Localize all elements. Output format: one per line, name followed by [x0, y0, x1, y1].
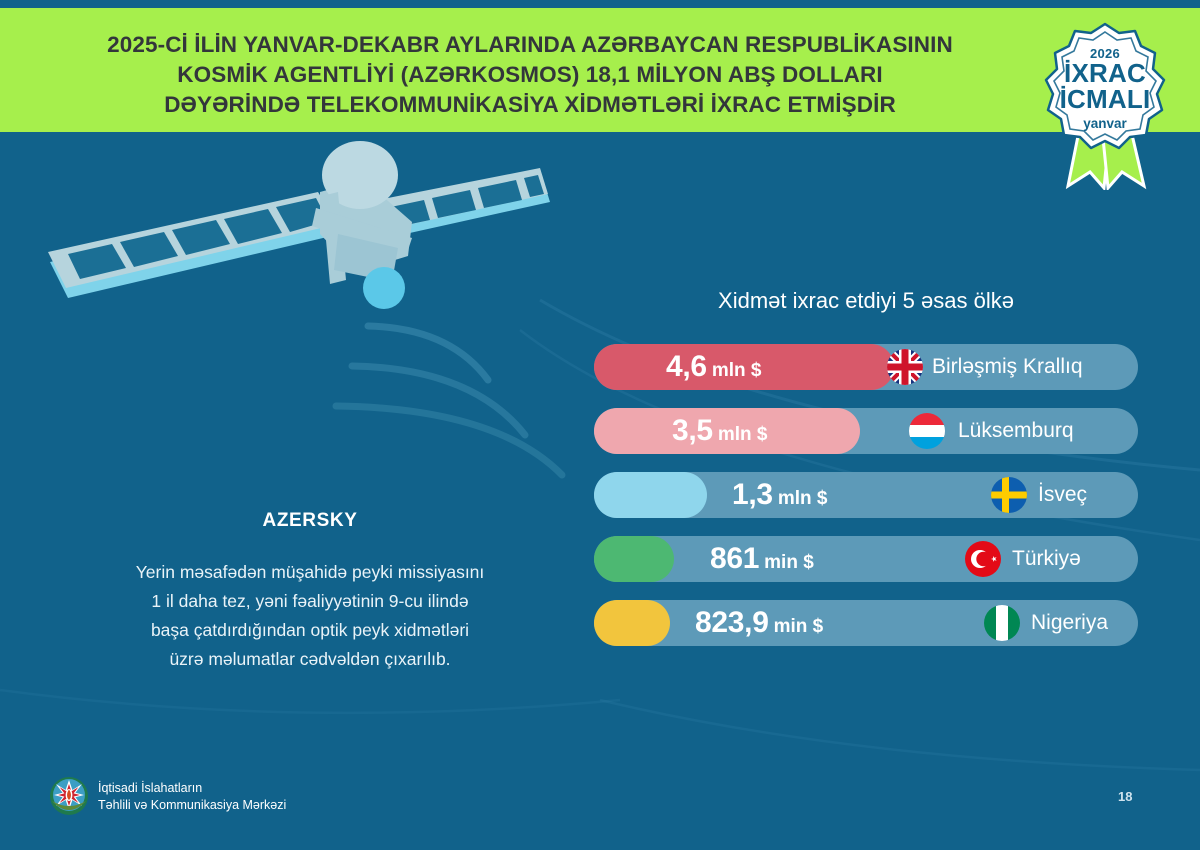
- azerbaijan-emblem-icon: [48, 775, 90, 817]
- page-title: 2025-Cİ İLİN YANVAR-DEKABR AYLARINDA AZƏ…: [30, 30, 1030, 120]
- bar-row-luxembourg: 3,5mln $ Lüksemburq: [594, 408, 1138, 454]
- badge-line-2: İCMALI: [1018, 86, 1192, 113]
- satellite-body: [312, 141, 412, 284]
- bar-value-number: 823,9: [695, 606, 769, 639]
- luxembourg-flag-icon: [909, 413, 945, 449]
- bar-value-nigeria: 823,9min $: [695, 600, 823, 646]
- bar-value-turkiye: 861min $: [710, 536, 814, 582]
- bar-row-nigeria: 823,9min $ Nigeriya: [594, 600, 1138, 646]
- country-label-turkiye: Türkiyə: [1012, 536, 1081, 582]
- bar-value-number: 1,3: [732, 478, 773, 511]
- country-label-uk: Birləşmiş Krallıq: [932, 344, 1083, 390]
- country-bar-chart: 4,6mln $ Birləşmiş Krallıq 3,5mln $: [594, 344, 1138, 664]
- solar-panel-left: [48, 192, 340, 298]
- bar-row-turkiye: 861min $ Türkiyə: [594, 536, 1138, 582]
- bar-value-unit: mln $: [712, 360, 762, 381]
- sweden-flag-icon: [991, 477, 1027, 513]
- chart-title: Xidmət ixrac etdiyi 5 əsas ölkə: [594, 288, 1138, 314]
- bar-value-unit: mln $: [778, 488, 828, 509]
- bar-fill-turkiye: [594, 536, 674, 582]
- bar-value-number: 3,5: [672, 414, 713, 447]
- footer-organization-name: İqtisadi İslahatların Təhlili və Kommuni…: [98, 780, 286, 814]
- bar-row-uk: 4,6mln $ Birləşmiş Krallıq: [594, 344, 1138, 390]
- azersky-description: Yerin məsafədən müşahidə peyki missiyası…: [50, 558, 570, 674]
- bar-value-number: 861: [710, 542, 759, 575]
- azersky-heading: AZERSKY: [60, 510, 560, 532]
- bar-value-luxembourg: 3,5mln $: [672, 408, 767, 454]
- bar-value-number: 4,6: [666, 350, 707, 383]
- bar-value-unit: min $: [764, 552, 814, 573]
- satellite-dish-icon: [363, 267, 405, 309]
- bar-value-uk: 4,6mln $: [666, 344, 761, 390]
- signal-waves-icon: [336, 326, 562, 475]
- bar-fill-sweden: [594, 472, 707, 518]
- badge-line-1: İXRAC: [1018, 60, 1192, 87]
- country-label-luxembourg: Lüksemburq: [958, 408, 1074, 454]
- country-label-nigeria: Nigeriya: [1031, 600, 1108, 646]
- bar-fill-nigeria: [594, 600, 670, 646]
- page-number: 18: [1118, 789, 1132, 804]
- turkey-flag-icon: [965, 541, 1001, 577]
- bar-value-sweden: 1,3mln $: [732, 472, 827, 518]
- bar-value-unit: min $: [774, 616, 824, 637]
- uk-flag-icon: [887, 349, 923, 385]
- bar-row-sweden: 1,3mln $ İsveç: [594, 472, 1138, 518]
- bar-value-unit: mln $: [718, 424, 768, 445]
- ixrac-icmali-badge: 2026 İXRAC İCMALI yanvar: [1018, 8, 1192, 190]
- satellite-illustration: [20, 130, 580, 490]
- infographic-page: 2025-Cİ İLİN YANVAR-DEKABR AYLARINDA AZƏ…: [0, 0, 1200, 850]
- country-label-sweden: İsveç: [1038, 472, 1087, 518]
- badge-month: yanvar: [1018, 116, 1192, 131]
- nigeria-flag-icon: [984, 605, 1020, 641]
